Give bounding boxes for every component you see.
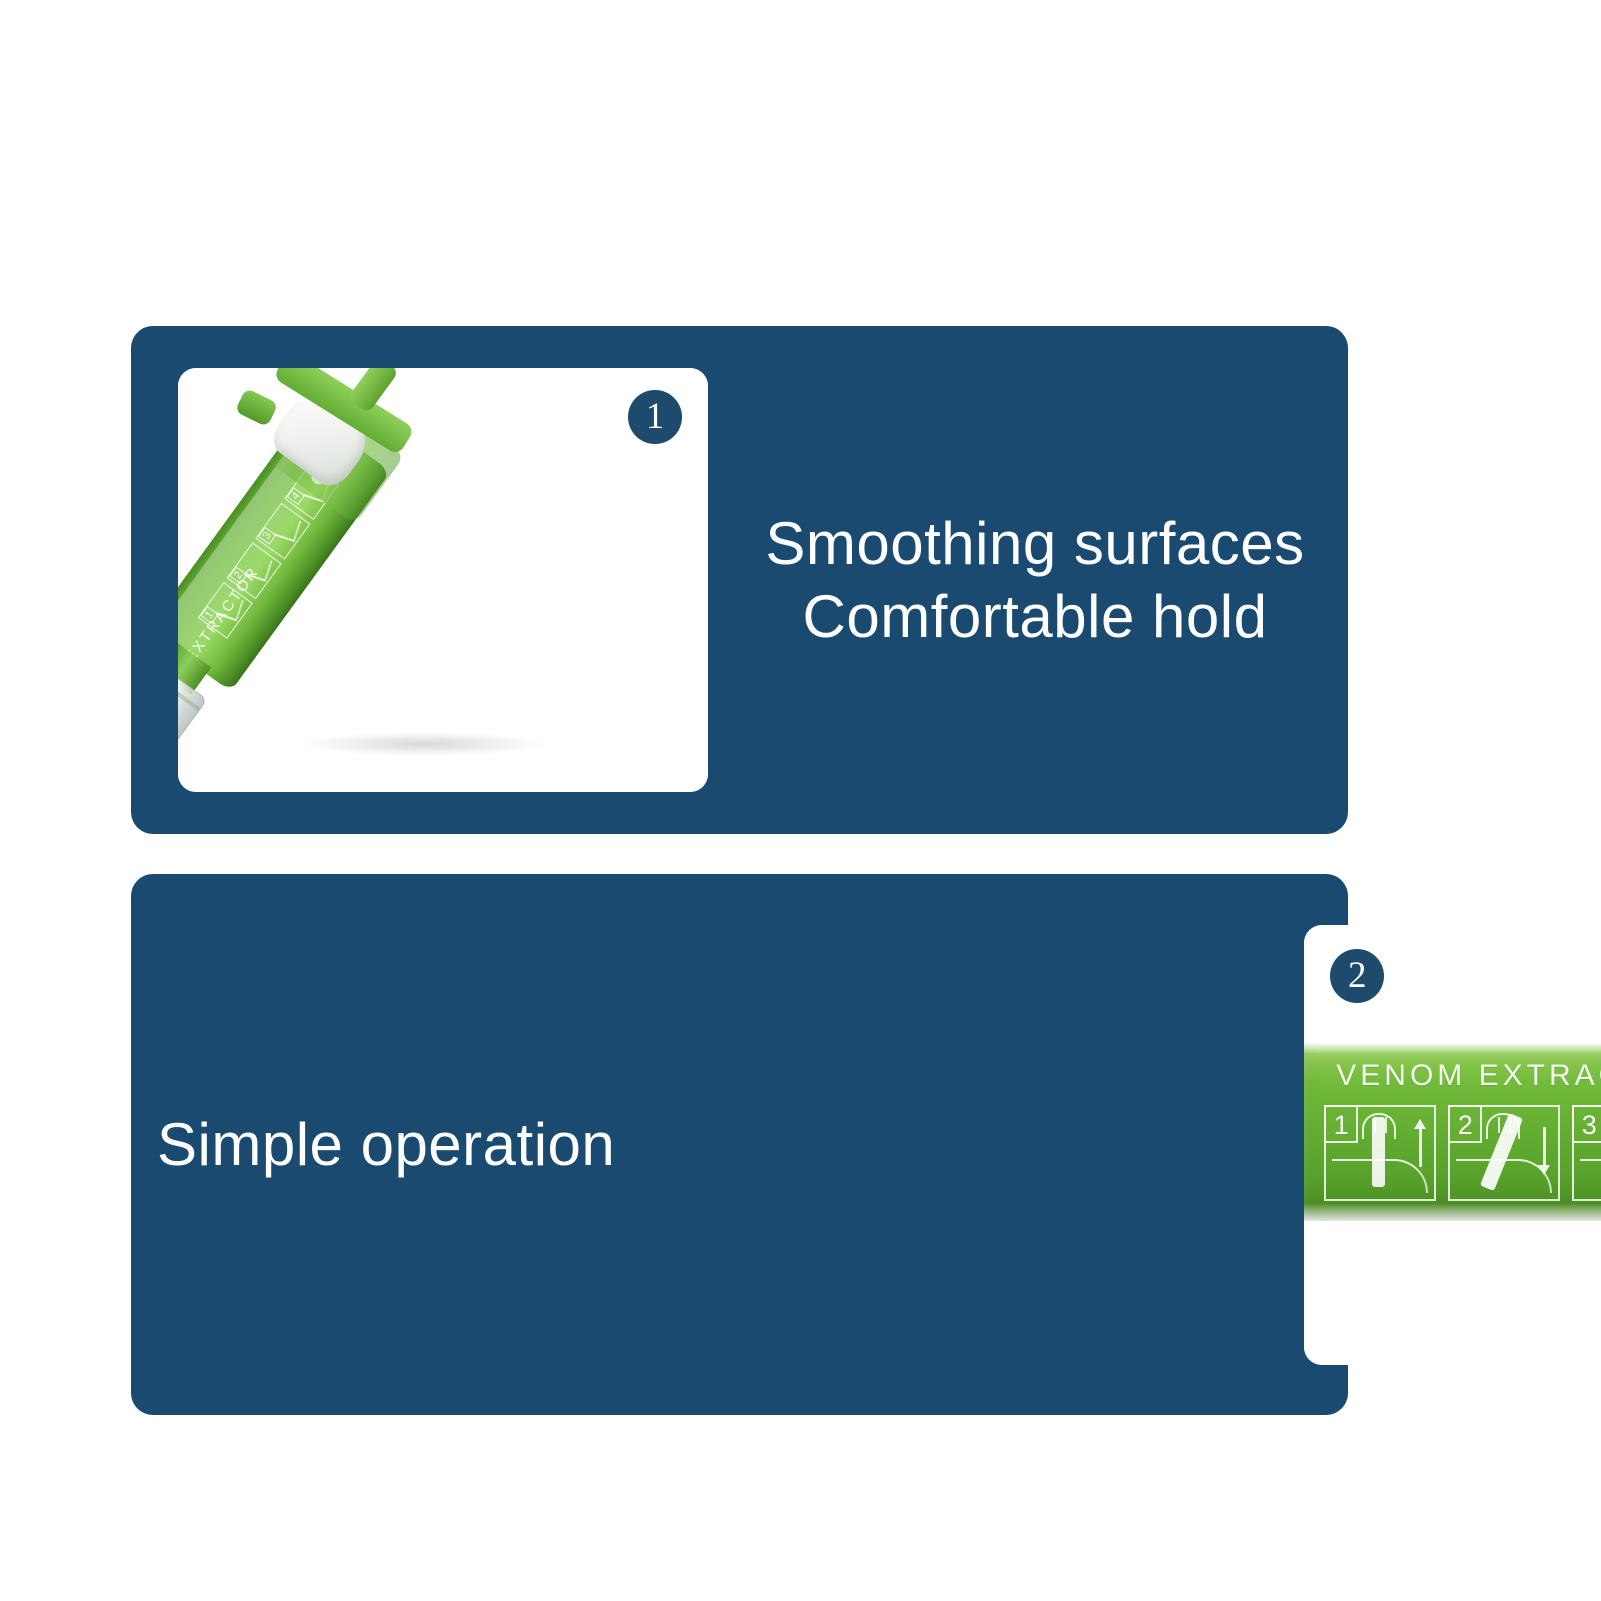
panel-2-caption: Simple operation (131, 1108, 645, 1181)
panel-1-caption: Smoothing surfaces Comfortable hold (708, 507, 1348, 653)
instruction-step-number: 3 (1572, 1105, 1601, 1143)
step-badge-1: 1 (628, 390, 682, 444)
instruction-step-2: 2 (1448, 1105, 1560, 1201)
device-plunger-lip (235, 388, 279, 427)
venom-extractor-device: VENOM EXTRACTOR 1 2 3 (178, 368, 547, 792)
barrel-closeup-band: VENOM EXTRACTOR 1 2 (1304, 1043, 1601, 1221)
forearm-icon (1580, 1159, 1601, 1193)
feature-panel-2: Simple operation VENOM EXTRACTOR 1 (131, 874, 1348, 1415)
instruction-step-number: 2 (1448, 1105, 1482, 1143)
product-photo-card-1: VENOM EXTRACTOR 1 2 3 (178, 368, 708, 792)
caption-line: Comfortable hold (748, 580, 1322, 653)
product-photo-card-2: VENOM EXTRACTOR 1 2 (1304, 925, 1601, 1365)
instruction-step-3: 3 (1572, 1105, 1601, 1201)
instruction-step-1: 1 (1324, 1105, 1436, 1201)
product-feature-page: VENOM EXTRACTOR 1 2 3 (0, 0, 1601, 1601)
arrow-down-icon (1543, 1127, 1546, 1167)
product-photo-1: VENOM EXTRACTOR 1 2 3 (178, 368, 708, 792)
caption-line: Smoothing surfaces (748, 507, 1322, 580)
caption-line: Simple operation (157, 1108, 615, 1181)
instruction-steps-row: 1 2 (1324, 1105, 1601, 1201)
feature-panel-1: VENOM EXTRACTOR 1 2 3 (131, 326, 1348, 834)
step-badge-2: 2 (1330, 949, 1384, 1003)
brand-label-text: VENOM EXTRACTOR (1336, 1059, 1601, 1093)
arrow-up-icon (1419, 1127, 1422, 1167)
hand-icon (1362, 1113, 1396, 1139)
instruction-step-number: 1 (1324, 1105, 1358, 1143)
